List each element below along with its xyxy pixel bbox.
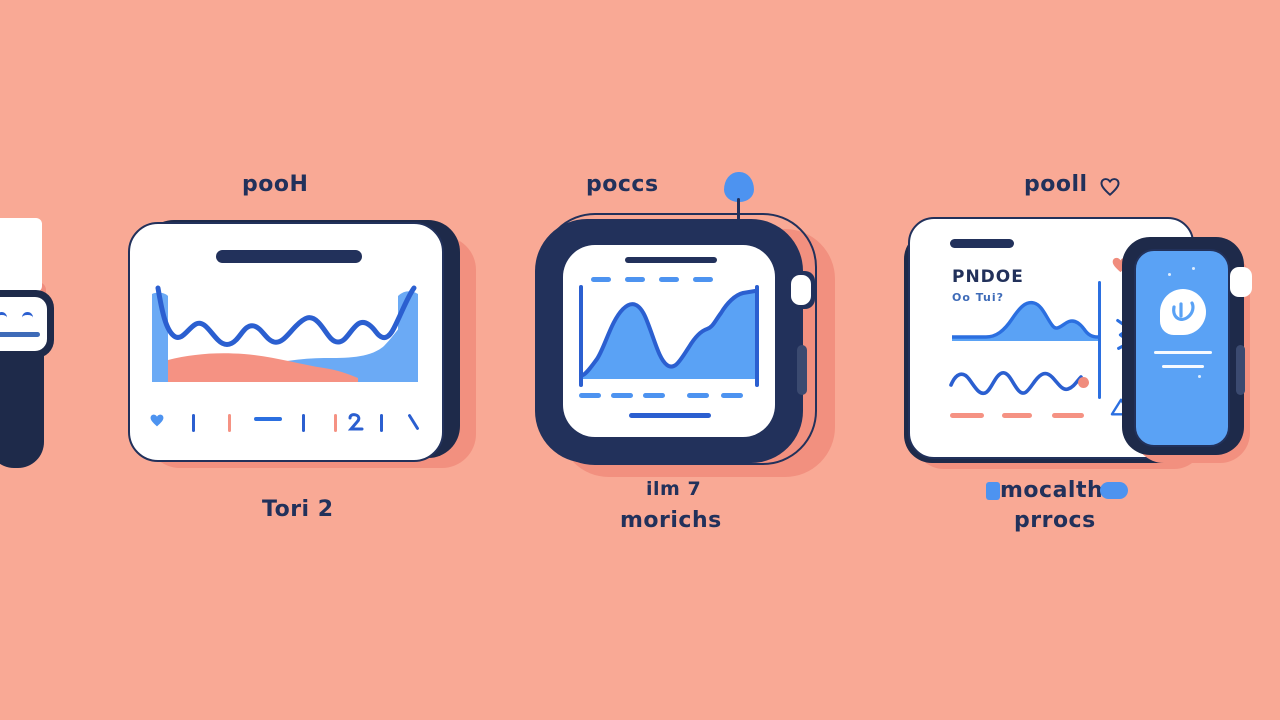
watch-face (0, 297, 47, 351)
device-1-speaker-bar (216, 250, 362, 263)
tick-mark (192, 414, 195, 432)
device-1-tablet[interactable] (120, 210, 470, 470)
device-3-hill-chart (952, 297, 1098, 341)
dash-mark (254, 417, 282, 421)
tick-mark (228, 414, 231, 432)
device-1-chart (148, 282, 426, 397)
watch-face-bar-icon (0, 332, 40, 337)
device-3-caption-top: pooll (1024, 172, 1088, 197)
device-2-caption-line1: ilm 7 (646, 478, 701, 500)
phone-side-button[interactable] (1236, 345, 1245, 395)
pink-dash (1002, 413, 1032, 418)
tick-mark (302, 414, 305, 432)
device-1-caption-top: pooH (242, 172, 308, 197)
device-2-screen[interactable] (563, 245, 775, 437)
device-3-wave-chart-svg (948, 367, 1084, 401)
watch-face-eye-right-icon (22, 312, 33, 320)
illustration-canvas: pooH (0, 0, 1280, 720)
partial-smartwatch (0, 228, 66, 468)
device-1-icon-row (150, 410, 426, 436)
device-2-chart (581, 287, 757, 383)
device-2-caption-line1-text: ilm 7 (646, 478, 701, 500)
device-2-gridline-bottom (563, 393, 775, 398)
pink-dash (1052, 413, 1084, 418)
device-3-caption-line2: prrocs (1014, 508, 1096, 533)
device-1-chart-svg (148, 282, 426, 397)
device-2-side-button[interactable] (797, 345, 807, 395)
device-2-axis-right (755, 285, 759, 387)
device-2-footer-bar (629, 413, 711, 418)
device-2-chart-svg (581, 287, 757, 383)
swirl-glyph (1160, 289, 1206, 335)
device-2-crown-inner (791, 275, 811, 305)
watch-band-bottom (0, 340, 44, 468)
phone-crown-button[interactable] (1230, 267, 1252, 297)
watch-band-top (0, 218, 42, 292)
swirl-logo-icon (1160, 289, 1206, 335)
device-2-gridline-top (563, 277, 775, 282)
device-3-status-pill (950, 239, 1014, 248)
heart-outline-icon (1100, 178, 1120, 196)
device-1-screen[interactable] (128, 222, 444, 462)
device-3-hill-chart-svg (952, 297, 1098, 341)
tick-mark (380, 414, 383, 432)
pink-dash (950, 413, 984, 418)
device-3-divider (1098, 281, 1101, 399)
placeholder-line (1154, 351, 1212, 354)
tick-mark (334, 414, 337, 432)
phone-screen[interactable] (1134, 249, 1230, 447)
device-2-caption-top: poccs (586, 172, 659, 197)
device-3-pink-dot-icon (1078, 377, 1089, 388)
device-3-tablet[interactable]: PNDOE Oo Tui? (890, 215, 1260, 475)
device-2-title-bar (625, 257, 717, 263)
balloon-pin-icon (724, 172, 754, 206)
device-2-smartwatch[interactable] (535, 205, 835, 480)
caption-blue-block (986, 482, 1000, 500)
device-2-axis-left (579, 285, 583, 387)
caption-blue-pill (1100, 482, 1128, 499)
sparkle (1168, 273, 1171, 276)
device-3-caption-line1: mocalth (1000, 478, 1103, 503)
slash-mark-icon (407, 414, 419, 431)
heart-icon (150, 414, 164, 427)
device-1-caption-bottom: Tori 2 (262, 497, 334, 522)
numeral-2-glyph-icon (348, 413, 364, 431)
device-3-heading: PNDOE (952, 267, 1024, 287)
sparkle (1192, 267, 1195, 270)
placeholder-line (1162, 365, 1204, 368)
device-3-caption-line1-text: mocalth (1000, 478, 1103, 503)
device-3-wave-chart (948, 367, 1084, 401)
device-3-phone[interactable] (1122, 237, 1254, 465)
device-2-caption-line2: morichs (620, 508, 722, 533)
sparkle (1198, 375, 1201, 378)
